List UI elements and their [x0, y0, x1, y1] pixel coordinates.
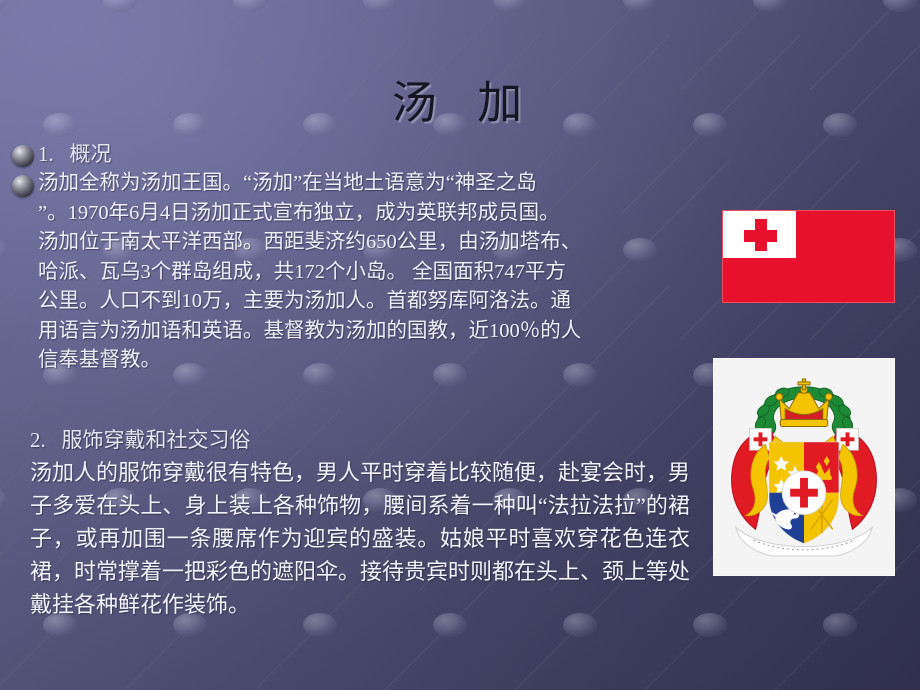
- section-1-heading: 1. 概况: [38, 139, 112, 169]
- flag-cross-horizontal: [744, 230, 777, 242]
- section-2: 2. 服饰穿戴和社交习俗 汤加人的服饰穿戴很有特色，男人平时穿着比较随便，赴宴会…: [30, 424, 690, 621]
- section-2-body: 汤加人的服饰穿戴很有特色，男人平时穿着比较随便，赴宴会时，男子多爱在头上、身上装…: [30, 456, 690, 621]
- presentation-slide: 汤 加 1. 概况 汤加全称为汤加王国。“汤加”在当地土语意为“神圣之岛 ”。1…: [0, 0, 920, 690]
- sphere-bullet-icon: [12, 175, 34, 197]
- sphere-bullet-icon: [12, 145, 34, 167]
- section-2-heading: 2. 服饰穿戴和社交习俗: [30, 424, 690, 456]
- slide-title: 汤 加: [0, 66, 920, 131]
- tonga-flag-image: [722, 210, 895, 303]
- tonga-coat-of-arms-image: [713, 358, 895, 576]
- section-1: 1. 概况 汤加全称为汤加王国。“汤加”在当地土语意为“神圣之岛 ”。1970年…: [12, 139, 702, 376]
- section-1-body-row: 汤加全称为汤加王国。“汤加”在当地土语意为“神圣之岛 ”。1970年6月4日汤加…: [12, 169, 702, 376]
- section-1-heading-row: 1. 概况: [12, 139, 702, 169]
- coat-of-arms-graphic: [714, 359, 894, 575]
- section-1-body: 汤加全称为汤加王国。“汤加”在当地土语意为“神圣之岛 ”。1970年6月4日汤加…: [38, 169, 581, 376]
